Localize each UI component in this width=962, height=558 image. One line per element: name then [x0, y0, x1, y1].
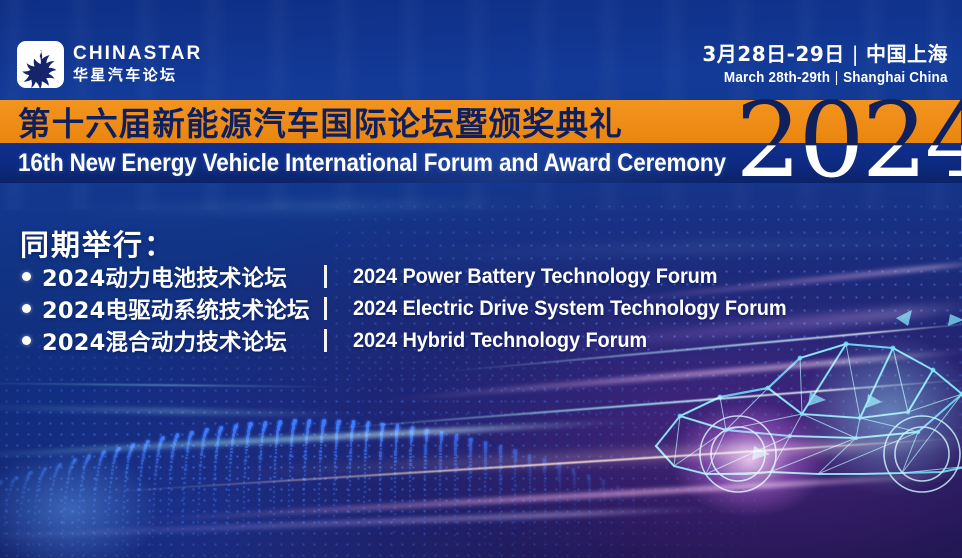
brand-logo[interactable]: CHINASTAR 华星汽车论坛: [17, 41, 202, 88]
forum-name-cn: 2024电驱动系统技术论坛: [42, 293, 324, 325]
dot-halftone-wave-decoration: [0, 330, 680, 558]
forum-separator: [324, 265, 327, 288]
event-location-cn: 中国上海: [866, 42, 948, 66]
forum-name-en: 2024 Power Battery Technology Forum: [353, 265, 717, 289]
logo-name-en: CHINASTAR: [73, 44, 202, 64]
forum-name-cn: 2024混合动力技术论坛: [42, 325, 324, 357]
event-title-en: 16th New Energy Vehicle International Fo…: [18, 143, 726, 183]
forum-separator: [324, 329, 327, 352]
dot-halftone-field-lower: [0, 330, 762, 558]
star-pinwheel-icon: [17, 41, 64, 88]
glow-bloom-decoration: [0, 420, 200, 558]
list-item[interactable]: 2024动力电池技术论坛 2024 Power Battery Technolo…: [22, 262, 809, 291]
dot-bullet-icon: [22, 304, 31, 313]
meta-separator-cn: |: [852, 42, 859, 66]
concurrent-forum-list: 2024动力电池技术论坛 2024 Power Battery Technolo…: [22, 262, 809, 355]
forum-name-en: 2024 Electric Drive System Technology Fo…: [353, 297, 787, 321]
logo-name-cn: 华星汽车论坛: [73, 66, 202, 85]
forum-name-cn: 2024动力电池技术论坛: [42, 261, 324, 293]
list-item[interactable]: 2024电驱动系统技术论坛 2024 Electric Drive System…: [22, 294, 809, 323]
event-date-cn: 3月28日-29日: [702, 42, 844, 66]
concurrent-lead-label: 同期举行：: [20, 222, 175, 264]
event-banner: CHINASTAR 华星汽车论坛 3月28日-29日|中国上海 March 28…: [0, 0, 962, 558]
list-item[interactable]: 2024混合动力技术论坛 2024 Hybrid Technology Foru…: [22, 326, 809, 355]
event-title-cn: 第十六届新能源汽车国际论坛暨颁奖典礼: [18, 100, 623, 143]
meta-separator-en: |: [835, 70, 839, 86]
event-location-en: Shanghai China: [843, 70, 948, 86]
event-date-en: March 28th-29th: [724, 70, 830, 86]
event-date-location: 3月28日-29日|中国上海 March 28th-29th|Shanghai …: [702, 42, 948, 87]
dot-bullet-icon: [22, 336, 31, 345]
forum-name-en: 2024 Hybrid Technology Forum: [353, 329, 647, 353]
forum-separator: [324, 297, 327, 320]
dot-bullet-icon: [22, 272, 31, 281]
